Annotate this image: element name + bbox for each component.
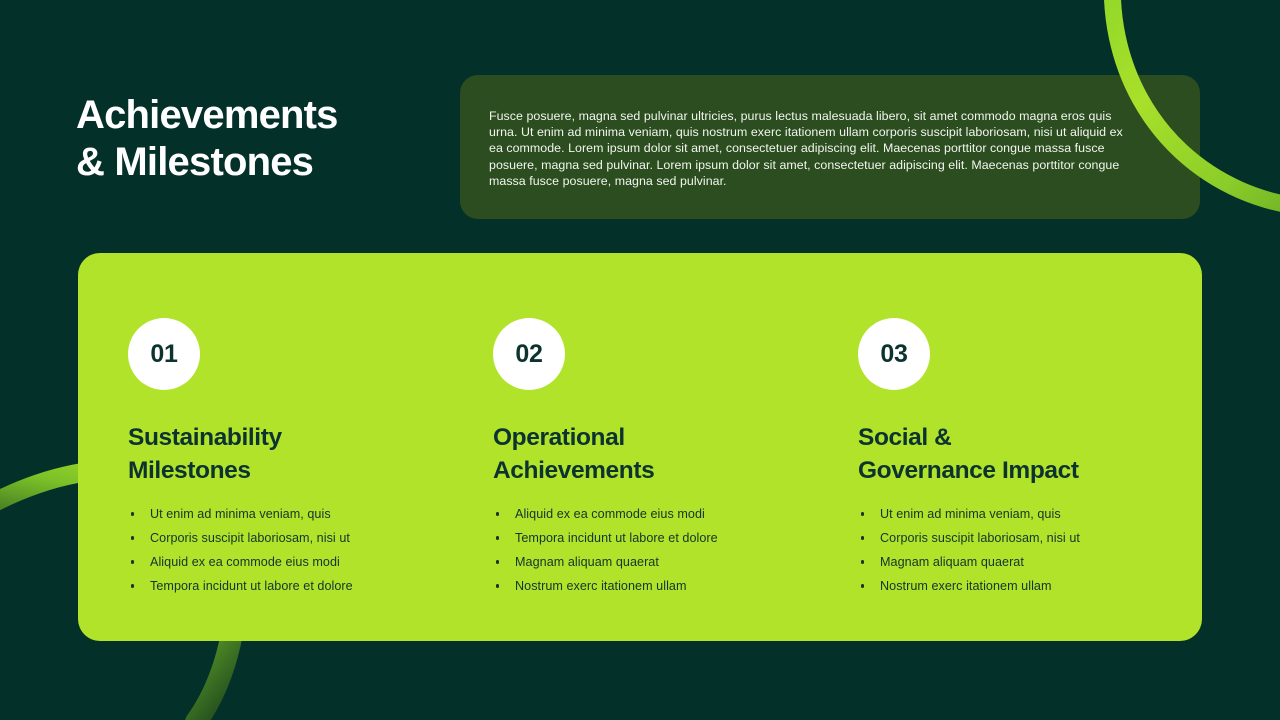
list-item: Magnam aliquam quaerat [493, 555, 858, 569]
column-sustainability-milestones: 01 Sustainability Milestones Ut enim ad … [128, 318, 493, 593]
step-number-01: 01 [150, 340, 177, 369]
page-title-line-2: & Milestones [76, 139, 456, 186]
list-item-text: Aliquid ex ea commode eius modi [515, 507, 705, 521]
step-number-02: 02 [515, 340, 542, 369]
list-item-text: Tempora incidunt ut labore et dolore [150, 579, 353, 593]
bullet-dot-icon [131, 512, 134, 515]
bullet-dot-icon [861, 536, 864, 539]
list-item-text: Tempora incidunt ut labore et dolore [515, 531, 718, 545]
column-heading-02: Operational Achievements [493, 422, 858, 487]
list-item: Tempora incidunt ut labore et dolore [128, 579, 493, 593]
bullet-dot-icon [131, 536, 134, 539]
bullet-dot-icon [496, 584, 499, 587]
bullet-dot-icon [861, 584, 864, 587]
columns-container: 01 Sustainability Milestones Ut enim ad … [128, 318, 1152, 593]
column-bullet-list-03: Ut enim ad minima veniam, quis Corporis … [858, 507, 1152, 593]
bullet-dot-icon [861, 512, 864, 515]
list-item: Aliquid ex ea commode eius modi [128, 555, 493, 569]
bullet-dot-icon [496, 536, 499, 539]
column-operational-achievements: 02 Operational Achievements Aliquid ex e… [493, 318, 858, 593]
column-bullet-list-01: Ut enim ad minima veniam, quis Corporis … [128, 507, 493, 593]
list-item-text: Ut enim ad minima veniam, quis [880, 507, 1061, 521]
bullet-dot-icon [496, 512, 499, 515]
list-item: Ut enim ad minima veniam, quis [858, 507, 1152, 521]
column-bullet-list-02: Aliquid ex ea commode eius modi Tempora … [493, 507, 858, 593]
column-heading-01: Sustainability Milestones [128, 422, 493, 487]
step-number-badge-01: 01 [128, 318, 200, 390]
list-item: Tempora incidunt ut labore et dolore [493, 531, 858, 545]
bullet-dot-icon [131, 584, 134, 587]
column-heading-03: Social & Governance Impact [858, 422, 1152, 487]
page-title-line-1: Achievements [76, 92, 456, 139]
page-title: Achievements & Milestones [76, 92, 456, 186]
list-item: Corporis suscipit laboriosam, nisi ut [128, 531, 493, 545]
list-item-text: Corporis suscipit laboriosam, nisi ut [880, 531, 1080, 545]
list-item: Nostrum exerc itationem ullam [858, 579, 1152, 593]
bullet-dot-icon [496, 560, 499, 563]
list-item: Magnam aliquam quaerat [858, 555, 1152, 569]
list-item-text: Nostrum exerc itationem ullam [880, 579, 1052, 593]
step-number-badge-02: 02 [493, 318, 565, 390]
list-item: Corporis suscipit laboriosam, nisi ut [858, 531, 1152, 545]
column-social-governance-impact: 03 Social & Governance Impact Ut enim ad… [858, 318, 1152, 593]
step-number-badge-03: 03 [858, 318, 930, 390]
list-item-text: Corporis suscipit laboriosam, nisi ut [150, 531, 350, 545]
step-number-03: 03 [880, 340, 907, 369]
bullet-dot-icon [131, 560, 134, 563]
list-item: Aliquid ex ea commode eius modi [493, 507, 858, 521]
slide-root: Achievements & Milestones Fusce posuere,… [0, 0, 1280, 720]
list-item-text: Aliquid ex ea commode eius modi [150, 555, 340, 569]
list-item-text: Ut enim ad minima veniam, quis [150, 507, 331, 521]
list-item-text: Nostrum exerc itationem ullam [515, 579, 687, 593]
list-item-text: Magnam aliquam quaerat [515, 555, 659, 569]
list-item-text: Magnam aliquam quaerat [880, 555, 1024, 569]
bullet-dot-icon [861, 560, 864, 563]
intro-paragraph: Fusce posuere, magna sed pulvinar ultric… [489, 108, 1129, 189]
list-item: Ut enim ad minima veniam, quis [128, 507, 493, 521]
list-item: Nostrum exerc itationem ullam [493, 579, 858, 593]
